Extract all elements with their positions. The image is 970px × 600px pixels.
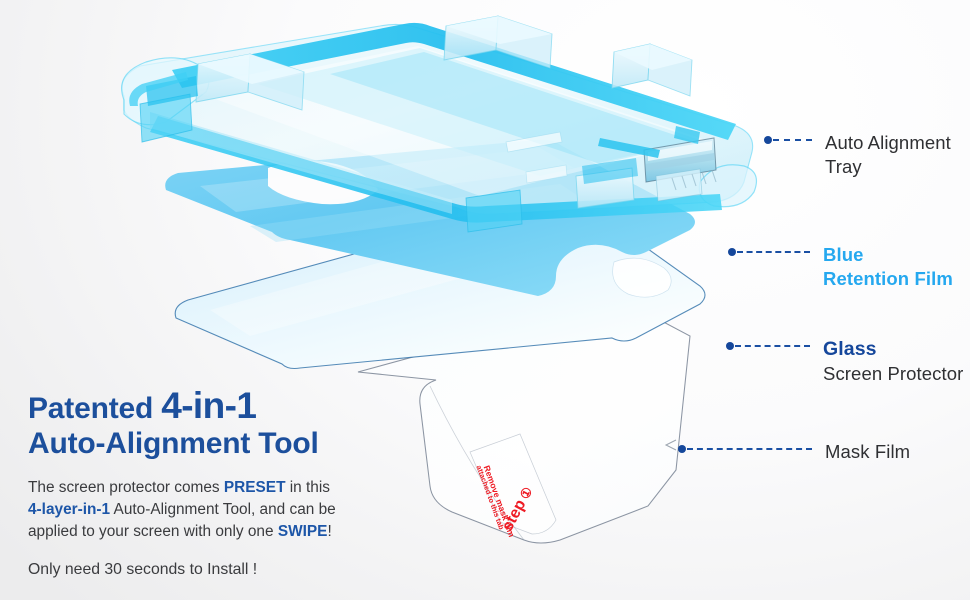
- body-highlight-swipe: SWIPE: [278, 523, 328, 540]
- install-time-tagline: Only need 30 seconds to Install !: [28, 561, 458, 579]
- leader-dash-icon: [687, 448, 812, 450]
- callout-line2: Retention Film: [823, 267, 953, 291]
- callout-text-blue-film: Blue Retention Film: [823, 243, 953, 291]
- callout-line2: Tray: [825, 155, 951, 179]
- body-highlight-layer: 4-layer-in-1: [28, 501, 110, 518]
- description-paragraph: The screen protector comes PRESET in thi…: [28, 477, 458, 544]
- page-title: Patented 4-in-1 Auto-Alignment Tool: [28, 386, 458, 460]
- callout-line1: Blue: [823, 243, 953, 267]
- callout-text-glass: Glass Screen Protector: [823, 337, 963, 386]
- callout-text-mask-film: Mask Film: [825, 440, 910, 464]
- body-text-4: applied to your screen with only one: [28, 523, 278, 540]
- infographic-canvas: Auto Alignment Tray Blue Retention Film …: [0, 0, 970, 600]
- leader-line-glass: [726, 337, 810, 355]
- body-text-1: The screen protector comes: [28, 479, 224, 496]
- leader-dash-icon: [735, 345, 810, 347]
- body-text-5: !: [327, 523, 331, 540]
- callout-mask-film: Mask Film: [678, 440, 968, 464]
- marketing-copy-block: Patented 4-in-1 Auto-Alignment Tool The …: [28, 386, 458, 579]
- leader-dot-icon: [728, 248, 736, 256]
- body-text-3: Auto-Alignment Tool, and can be: [110, 501, 336, 518]
- callout-glass-screen-protector: Glass Screen Protector: [726, 337, 966, 386]
- leader-line-mask-film: [678, 440, 812, 458]
- callout-text-tray: Auto Alignment Tray: [825, 131, 951, 179]
- leader-line-blue-film: [728, 243, 810, 261]
- leader-dash-icon: [737, 251, 810, 253]
- callout-line1: Glass: [823, 337, 963, 362]
- body-text-2: in this: [285, 479, 329, 496]
- callout-line1: Auto Alignment: [825, 131, 951, 155]
- headline-emphasis: 4-in-1: [161, 385, 256, 426]
- leader-line-tray: [764, 131, 812, 149]
- headline-line2: Auto-Alignment Tool: [28, 428, 458, 460]
- body-highlight-preset: PRESET: [224, 479, 286, 496]
- leader-dot-icon: [764, 136, 772, 144]
- leader-dot-icon: [678, 445, 686, 453]
- callout-line1: Mask Film: [825, 440, 910, 464]
- leader-dot-icon: [726, 342, 734, 350]
- callout-blue-retention-film: Blue Retention Film: [728, 243, 964, 291]
- leader-dash-icon: [773, 139, 812, 141]
- callout-line2: Screen Protector: [823, 362, 963, 386]
- callout-auto-alignment-tray: Auto Alignment Tray: [764, 131, 964, 179]
- headline-lead: Patented: [28, 392, 161, 425]
